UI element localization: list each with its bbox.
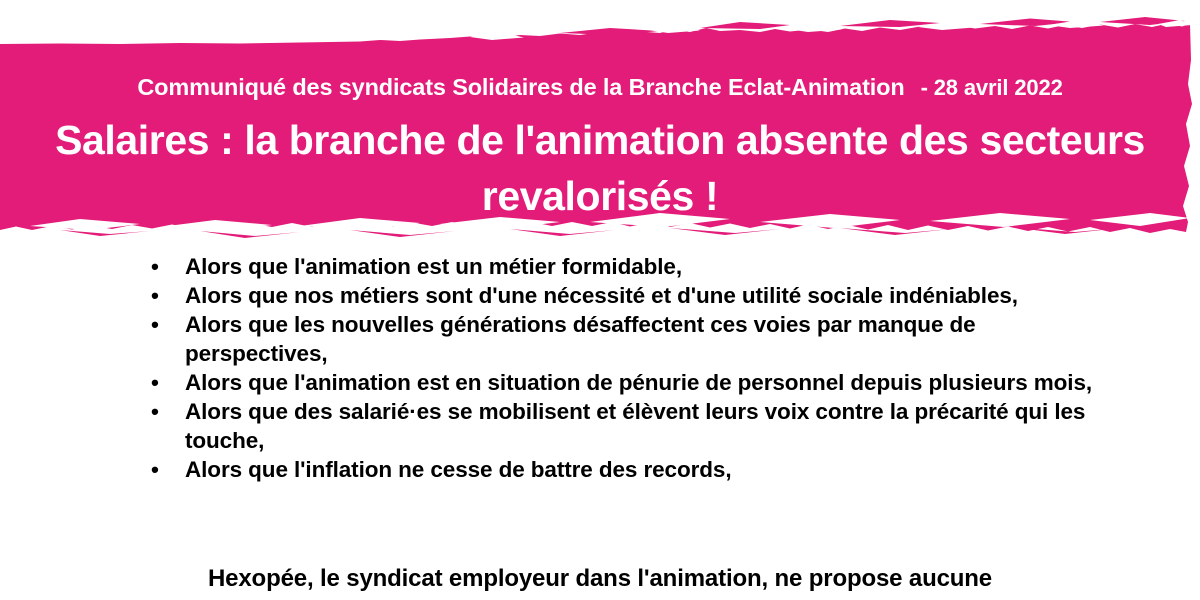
banner-text-block: Communiqué des syndicats Solidaires de l… bbox=[0, 0, 1200, 248]
list-item-text: Alors que les nouvelles générations désa… bbox=[185, 312, 976, 366]
list-item: • Alors que les nouvelles générations dé… bbox=[148, 310, 1108, 368]
bullet-icon: • bbox=[151, 310, 171, 339]
banner-kicker-label: Communiqué des syndicats Solidaires de l… bbox=[137, 74, 904, 100]
list-item: • Alors que l'animation est en situation… bbox=[148, 368, 1108, 397]
bullet-icon: • bbox=[151, 281, 171, 310]
bullet-icon: • bbox=[151, 252, 171, 281]
bullet-icon: • bbox=[151, 368, 171, 397]
list-item: • Alors que nos métiers sont d'une néces… bbox=[148, 281, 1108, 310]
closing-paragraph: Hexopée, le syndicat employeur dans l'an… bbox=[60, 563, 1140, 595]
page-title-line-1: Salaires : la branche de l'animation abs… bbox=[55, 117, 968, 163]
list-item: • Alors que l'animation est un métier fo… bbox=[148, 252, 1108, 281]
list-item: • Alors que l'inflation ne cesse de batt… bbox=[148, 455, 1108, 484]
bullet-icon: • bbox=[151, 455, 171, 484]
banner-kicker: Communiqué des syndicats Solidaires de l… bbox=[0, 76, 1200, 100]
banner-kicker-date: - 28 avril 2022 bbox=[921, 75, 1063, 100]
list-item-text: Alors que des salarié·es se mobilisent e… bbox=[185, 399, 1085, 453]
poster-page: Communiqué des syndicats Solidaires de l… bbox=[0, 0, 1200, 600]
list-item-text: Alors que nos métiers sont d'une nécessi… bbox=[185, 283, 1018, 308]
list-item-text: Alors que l'animation est en situation d… bbox=[185, 370, 1092, 395]
list-item-text: Alors que l'inflation ne cesse de battre… bbox=[185, 457, 731, 482]
list-item-text: Alors que l'animation est un métier form… bbox=[185, 254, 682, 279]
arguments-bullet-list: • Alors que l'animation est un métier fo… bbox=[148, 252, 1108, 484]
bullet-icon: • bbox=[151, 397, 171, 426]
page-title: Salaires : la branche de l'animation abs… bbox=[40, 112, 1160, 224]
list-item: • Alors que des salarié·es se mobilisent… bbox=[148, 397, 1108, 455]
pink-banner: Communiqué des syndicats Solidaires de l… bbox=[0, 0, 1200, 248]
